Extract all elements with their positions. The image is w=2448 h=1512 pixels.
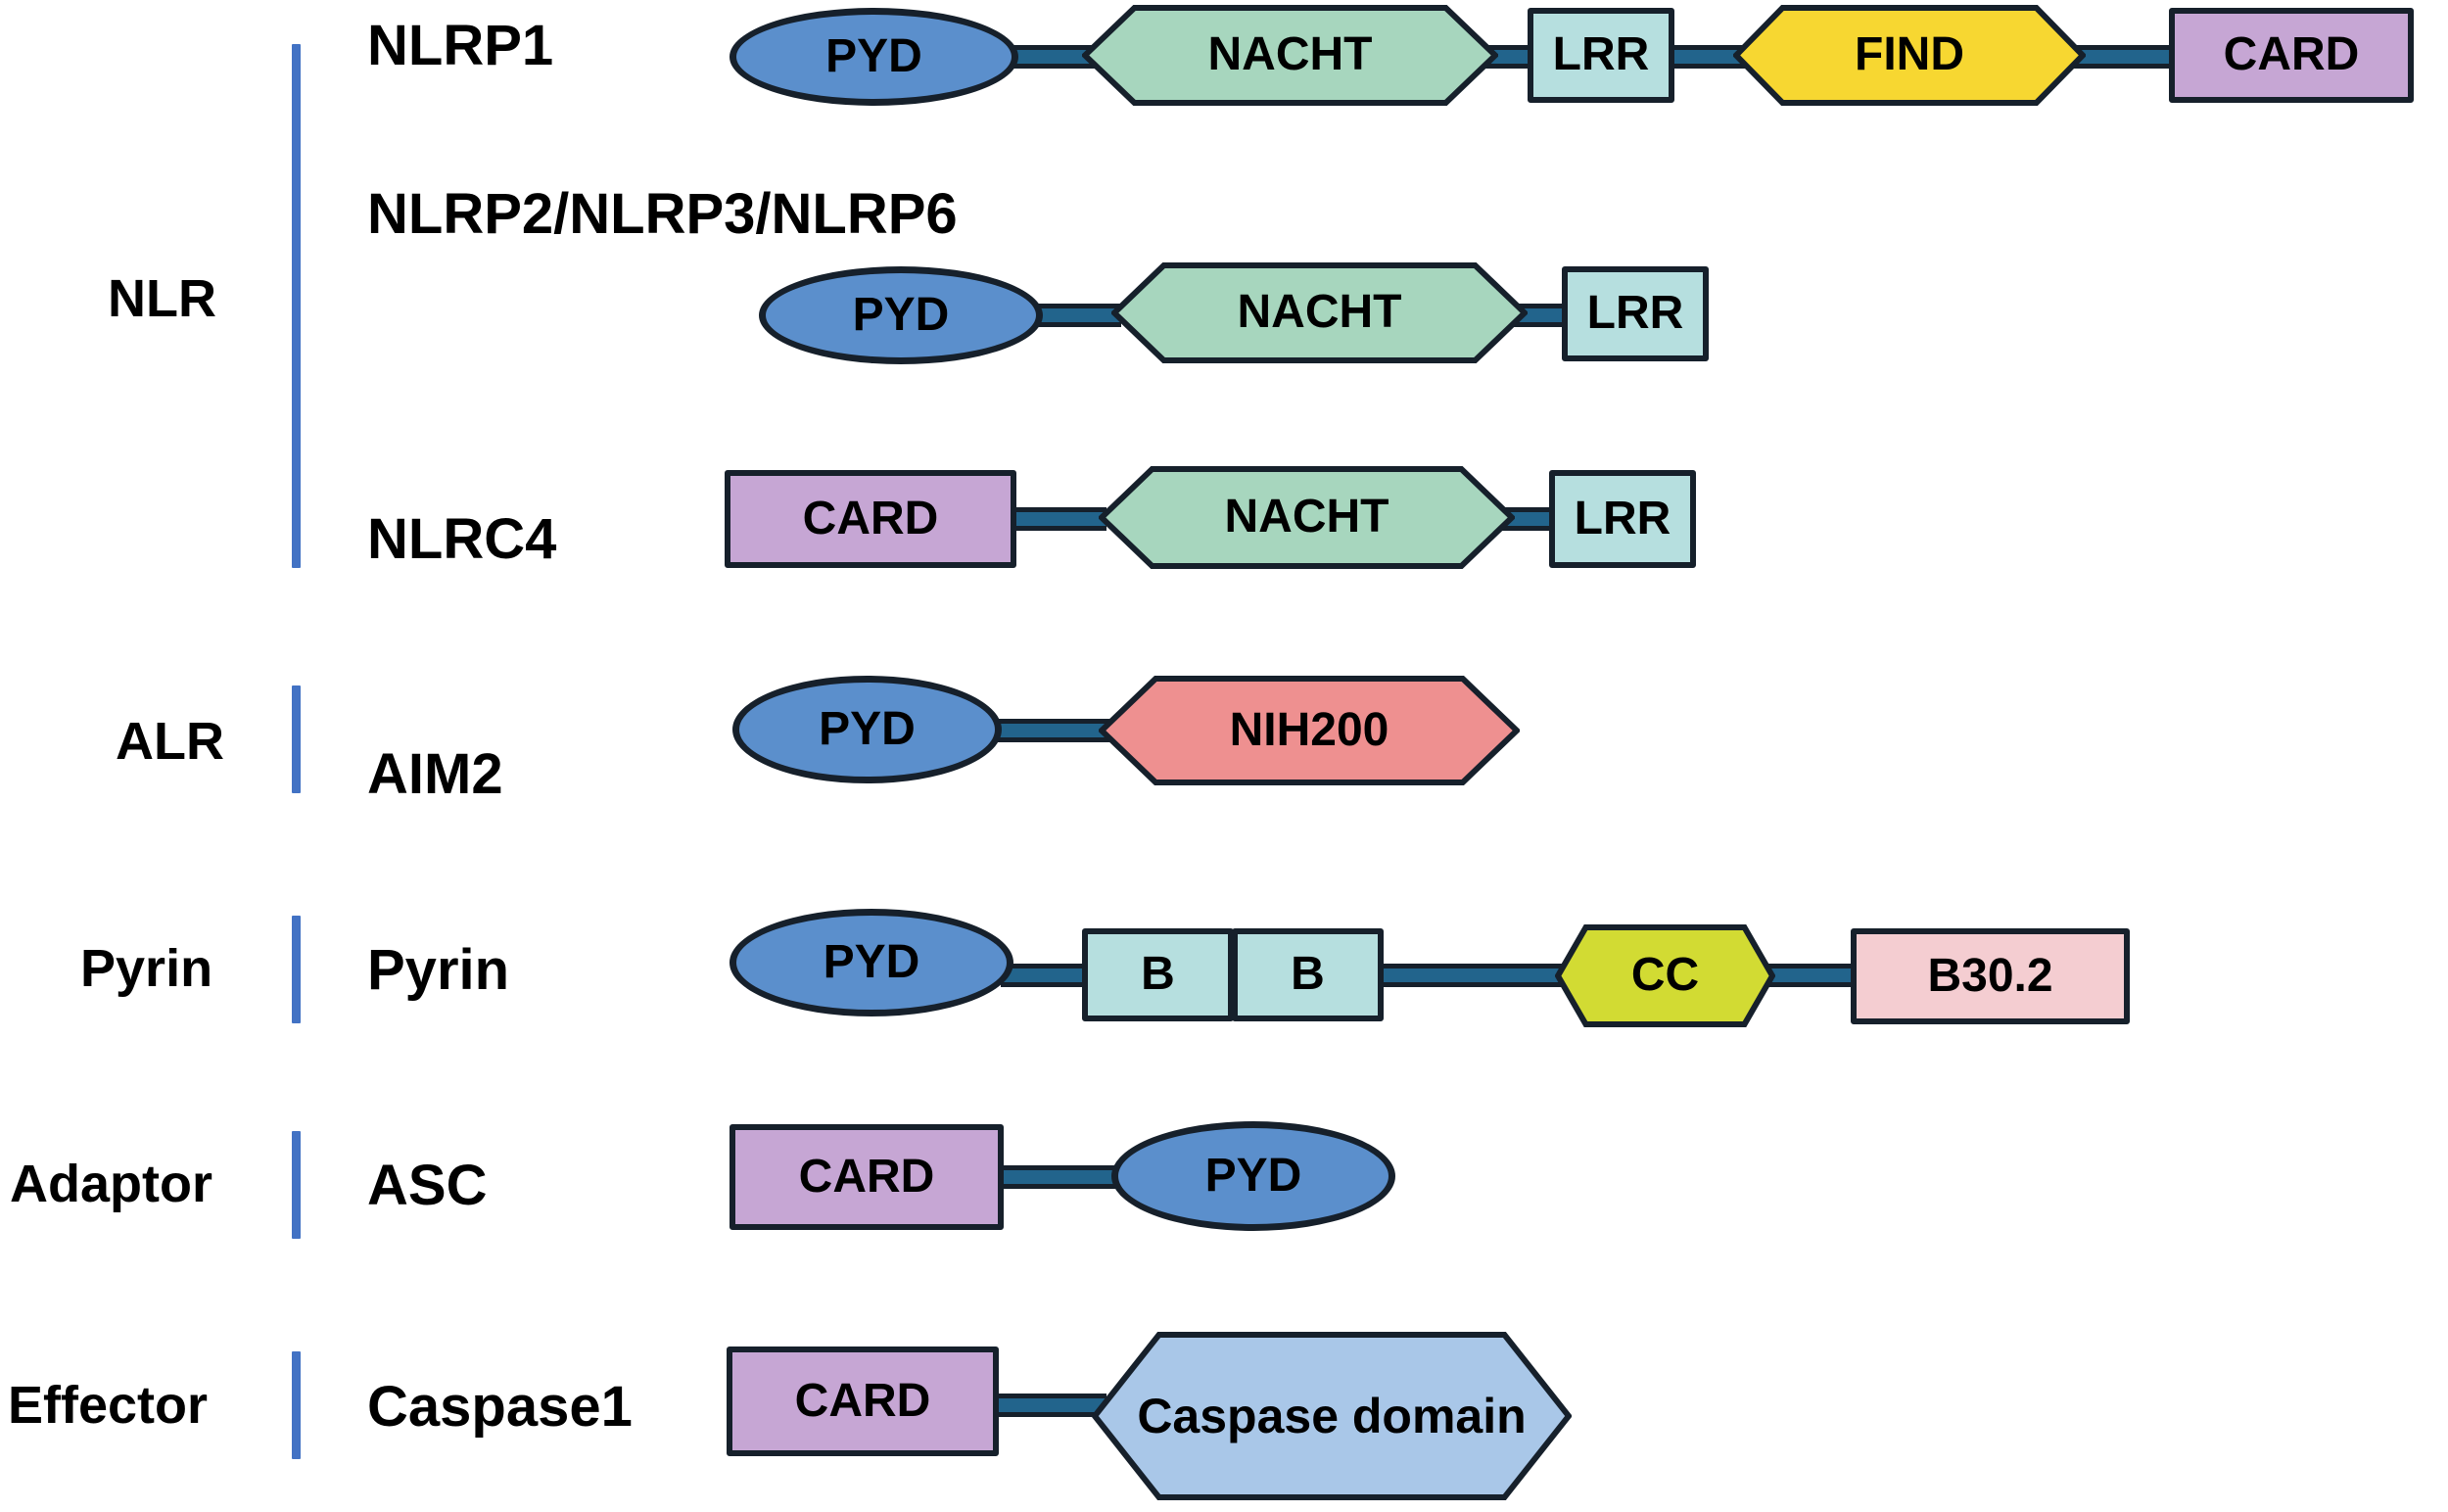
domain-label: B	[1291, 950, 1325, 999]
domain-caspase-domain: Caspase domain	[1092, 1332, 1572, 1500]
domain-pyd: PYD	[730, 8, 1018, 106]
domain-b: B	[1232, 928, 1384, 1021]
connector-link	[991, 1394, 1106, 1417]
domain-lrr: LRR	[1562, 266, 1709, 361]
category-bar-effector	[292, 1351, 301, 1459]
domain-label: NACHT	[1099, 493, 1515, 542]
domain-label: CARD	[799, 1153, 935, 1202]
domain-label: CARD	[2224, 30, 2360, 79]
connector-link	[1376, 964, 1567, 987]
category-label-effector: Effector	[8, 1379, 208, 1432]
category-label-nlr: NLR	[108, 272, 216, 325]
domain-pyd: PYD	[759, 266, 1043, 364]
domain-lrr: LRR	[1528, 8, 1674, 103]
domain-b: B	[1082, 928, 1234, 1021]
protein-label-caspase1: Caspase1	[367, 1379, 633, 1436]
category-bar-pyrin	[292, 916, 301, 1023]
protein-label-nlrp1: NLRP1	[367, 18, 553, 74]
domain-label: PYD	[824, 938, 920, 987]
connector-link	[1033, 304, 1121, 327]
domain-label: LRR	[1575, 495, 1671, 543]
category-bar-nlr	[292, 44, 301, 568]
category-label-pyrin: Pyrin	[80, 942, 212, 995]
connector-link	[997, 1165, 1124, 1189]
domain-b30-2: B30.2	[1851, 928, 2130, 1024]
domain-find: FIND	[1733, 5, 2086, 106]
domain-pyd: PYD	[730, 909, 1013, 1016]
category-bar-alr	[292, 685, 301, 793]
domain-label: LRR	[1553, 30, 1650, 79]
category-bar-adaptor	[292, 1131, 301, 1239]
connector-link	[989, 719, 1111, 742]
domain-label: Caspase domain	[1092, 1391, 1572, 1442]
domain-label: CC	[1555, 951, 1775, 1000]
domain-label: NACHT	[1111, 288, 1528, 337]
domain-lrr: LRR	[1549, 470, 1696, 568]
domain-label: FIND	[1733, 30, 2086, 79]
domain-nacht: NACHT	[1111, 262, 1528, 363]
connector-link	[1763, 964, 1860, 987]
connector-link	[1001, 964, 1094, 987]
domain-nih200: NIH200	[1099, 676, 1520, 785]
figure-canvas: NLRALRPyrinAdaptorEffectorNLRP1PYDNACHTL…	[0, 0, 2448, 1512]
domain-pyd: PYD	[1111, 1121, 1395, 1231]
domain-label: PYD	[825, 32, 922, 81]
domain-card: CARD	[730, 1124, 1004, 1230]
domain-label: NIH200	[1099, 706, 1520, 755]
protein-label-asc: ASC	[367, 1158, 487, 1214]
domain-label: CARD	[803, 495, 939, 543]
protein-label-nlrp236: NLRP2/NLRP3/NLRP6	[367, 186, 958, 243]
domain-cc: CC	[1555, 924, 1775, 1027]
domain-label: B	[1141, 950, 1175, 999]
protein-label-nlrc4: NLRC4	[367, 511, 556, 568]
domain-label: NACHT	[1082, 30, 1498, 79]
domain-label: PYD	[1205, 1152, 1302, 1201]
domain-card: CARD	[727, 1347, 999, 1456]
domain-card: CARD	[725, 470, 1016, 568]
domain-label: PYD	[853, 291, 950, 340]
domain-nacht: NACHT	[1082, 5, 1498, 106]
domain-label: LRR	[1587, 289, 1684, 338]
protein-label-pyrin: Pyrin	[367, 942, 509, 999]
domain-label: B30.2	[1927, 952, 2052, 1001]
domain-label: CARD	[795, 1377, 931, 1426]
protein-label-aim2: AIM2	[367, 746, 503, 803]
domain-nacht: NACHT	[1099, 466, 1515, 569]
connector-link	[1009, 507, 1106, 531]
category-label-alr: ALR	[116, 715, 224, 768]
connector-link	[2071, 45, 2179, 69]
domain-card: CARD	[2169, 8, 2414, 103]
domain-label: PYD	[819, 705, 916, 754]
category-label-adaptor: Adaptor	[10, 1158, 212, 1210]
domain-pyd: PYD	[732, 676, 1002, 783]
